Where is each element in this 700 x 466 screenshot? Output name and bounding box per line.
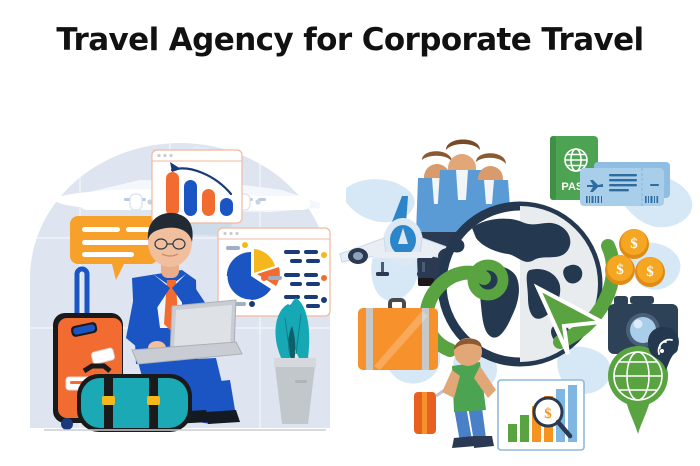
orange-hard-suitcase [358,300,438,370]
window-dots [223,232,238,235]
analytics-bar-chart-card[interactable]: $ [498,380,584,450]
right-illustration: PASS [332,104,700,464]
window-dots [157,154,172,157]
coin-3: $ [635,257,665,287]
teal-duffel-bag [77,366,192,432]
svg-text:$: $ [616,262,624,278]
page-title: Travel Agency for Corporate Travel [0,22,700,58]
bar-chart-window-card[interactable] [152,150,242,223]
svg-text:$: $ [646,264,654,280]
boarding-pass-ticket[interactable] [580,162,670,206]
svg-text:$: $ [544,406,552,422]
svg-text:$: $ [630,236,638,252]
coin-2: $ [605,255,635,285]
page-root: Travel Agency for Corporate Travel [0,0,700,466]
coin-1: $ [619,229,649,259]
left-illustration [20,128,350,450]
